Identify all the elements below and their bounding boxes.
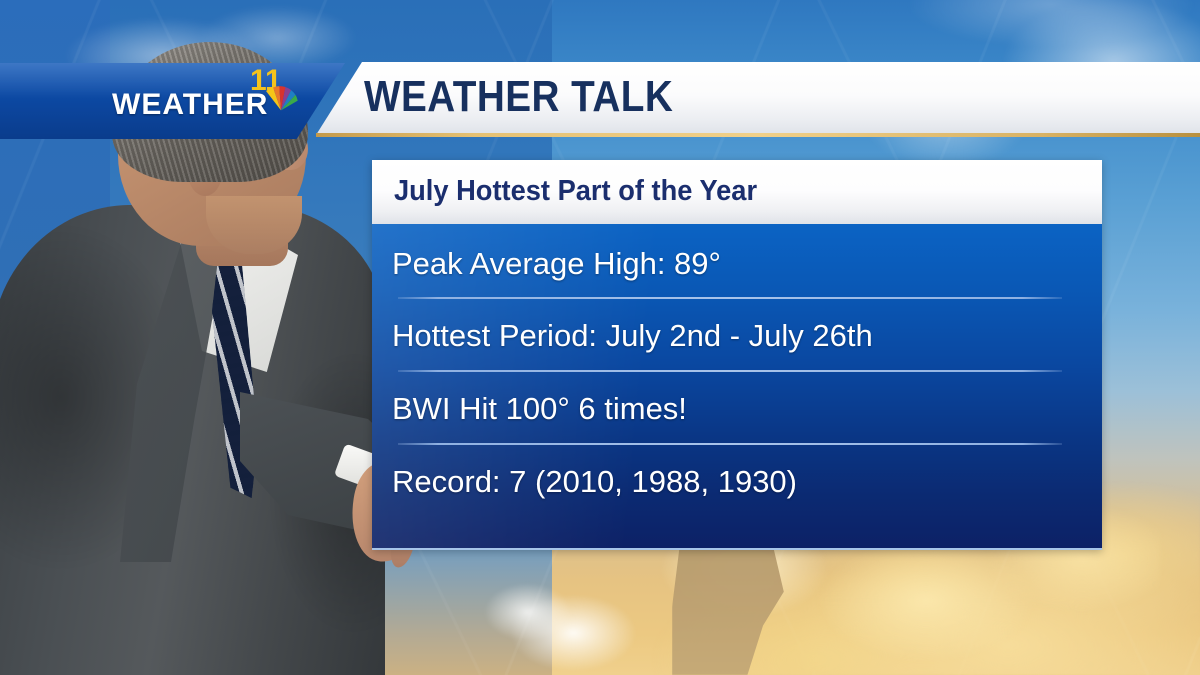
page-title: WEATHER TALK — [364, 72, 673, 122]
stat-row-text: BWI Hit 100° 6 times! — [392, 391, 687, 427]
weather-info-panel: July Hottest Part of the Year Peak Avera… — [372, 160, 1102, 550]
stat-rows: Peak Average High: 89° Hottest Period: J… — [372, 224, 1102, 548]
stat-row-text: Record: 7 (2010, 1988, 1930) — [392, 464, 797, 500]
row-divider — [398, 297, 1062, 299]
station-logo-text: WEATHER — [112, 88, 268, 122]
white-cloud-bottom — [470, 535, 700, 675]
panel-title-bar: July Hottest Part of the Year — [372, 160, 1102, 224]
stat-row-text: Peak Average High: 89° — [392, 246, 721, 282]
row-divider — [398, 370, 1062, 372]
broadcast-screenshot: WEATHER 11 WEATHER TALK July Hottest Par… — [0, 0, 1200, 675]
header-gold-accent-line — [316, 133, 1200, 137]
panel-body: Peak Average High: 89° Hottest Period: J… — [372, 224, 1102, 550]
stat-row-text: Hottest Period: July 2nd - July 26th — [392, 318, 873, 354]
panel-title-text: July Hottest Part of the Year — [394, 175, 757, 208]
row-divider — [398, 443, 1062, 445]
nbc-peacock-icon — [258, 76, 304, 120]
